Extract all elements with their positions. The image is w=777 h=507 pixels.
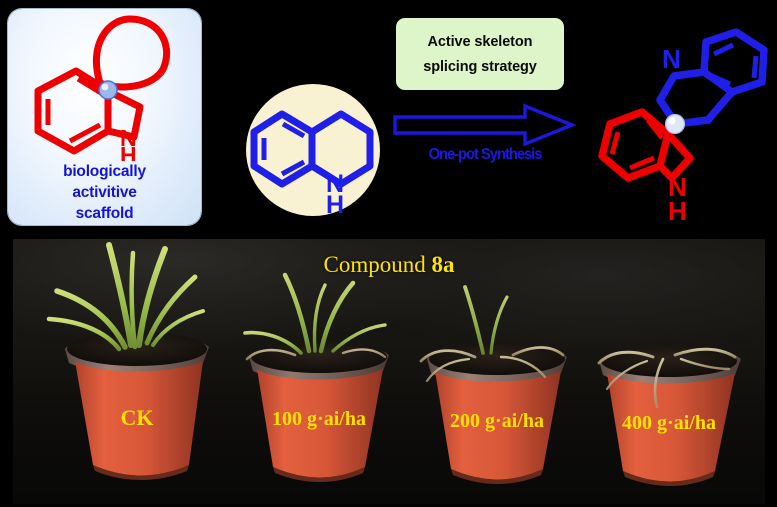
spiro-product-structure: N N H <box>586 28 776 228</box>
nitrogen-label-quinoline: N <box>662 44 681 74</box>
pot-series-scene: CK 100 g·ai/ha <box>13 239 765 504</box>
starting-material-group: N H <box>238 78 388 238</box>
compound-title-id: 8a <box>431 252 454 277</box>
pot-400: 400 g·ai/ha <box>599 345 741 486</box>
strategy-line-1: Active skeleton <box>428 34 533 50</box>
pot-200: 200 g·ai/ha <box>421 287 567 484</box>
strategy-line-2: splicing strategy <box>423 59 537 75</box>
scaffold-caption-line-1: biologically <box>8 161 201 182</box>
pot-label-200: 200 g·ai/ha <box>450 410 544 432</box>
pot-label-100: 100 g·ai/ha <box>272 408 366 430</box>
compound-title: Compound 8a <box>13 252 765 278</box>
spiro-indoline-scaffold-structure: N H <box>8 11 201 161</box>
one-pot-synthesis-label: One-pot Synthesis <box>399 146 570 164</box>
hydrogen-label-indoline: H <box>668 196 687 226</box>
scaffold-caption-line-2: activitive <box>8 182 201 203</box>
bioassay-photograph: CK 100 g·ai/ha <box>13 239 765 504</box>
graphical-abstract-band: N H biologically activitive scaffold N H… <box>0 0 777 237</box>
scaffold-caption-line-3: scaffold <box>8 203 201 224</box>
pot-100: 100 g·ai/ha <box>245 275 389 482</box>
pot-ck: CK <box>49 245 209 480</box>
pot-label-400: 400 g·ai/ha <box>622 412 716 434</box>
reaction-arrow-icon <box>392 103 576 147</box>
strategy-callout-box: Active skeleton splicing strategy <box>396 18 564 90</box>
scaffold-caption: biologically activitive scaffold <box>8 161 201 224</box>
hydrogen-label: H <box>120 142 137 161</box>
compound-title-prefix: Compound <box>324 252 432 277</box>
scaffold-panel: N H biologically activitive scaffold <box>8 9 201 225</box>
hydrogen-label: H <box>326 191 344 219</box>
tetrahydroquinoline-structure: N H <box>238 78 388 238</box>
pot-label-ck: CK <box>121 405 154 430</box>
